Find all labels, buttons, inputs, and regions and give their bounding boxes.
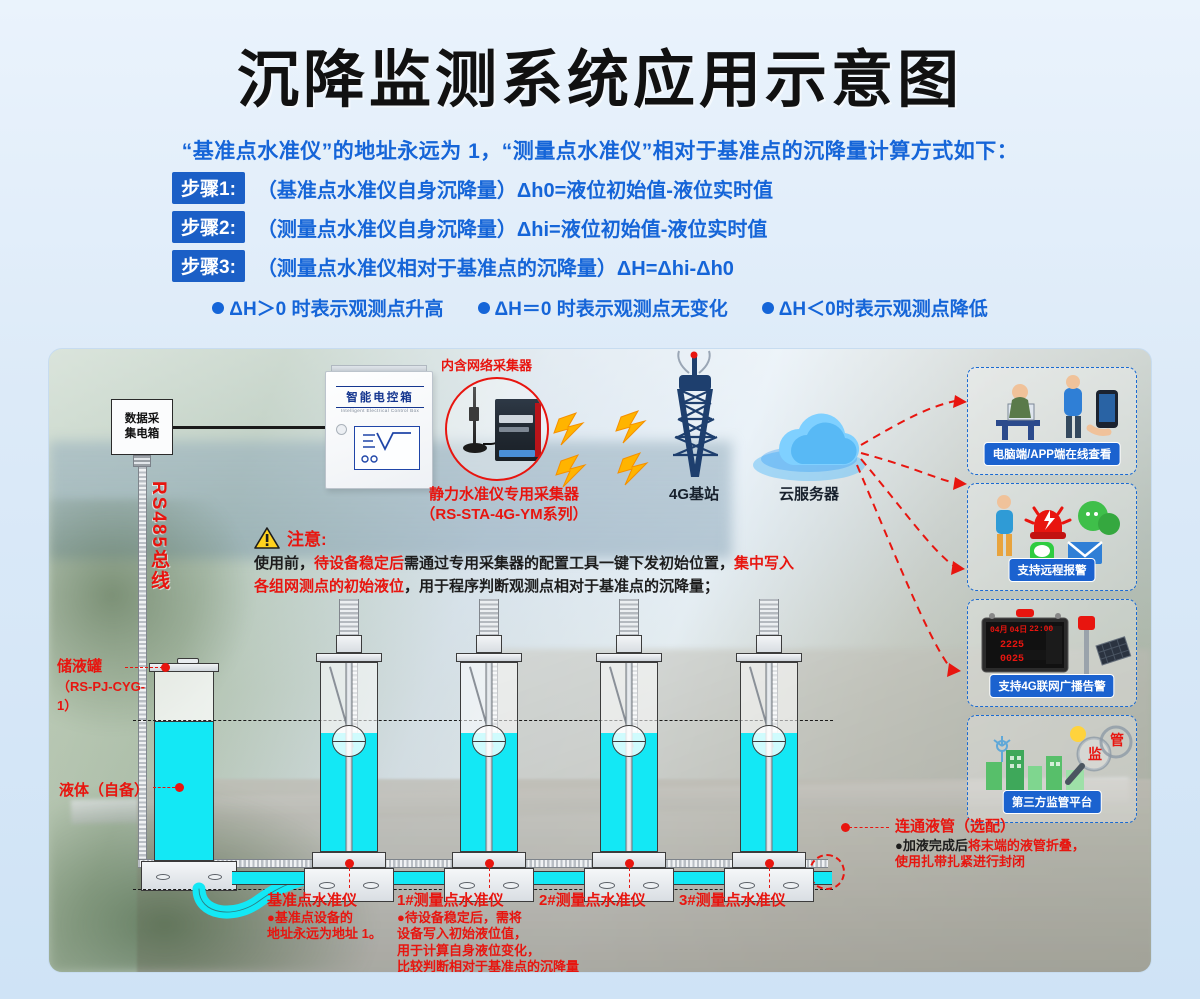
pipe-callout-title: 连通液管（选配） bbox=[895, 815, 1135, 836]
step-row: 步骤2: （测量点水准仪自身沉降量）Δhi=液位初始值-液位实时值 bbox=[150, 211, 1050, 243]
instrument-name: 2#测量点水准仪 bbox=[539, 889, 646, 910]
pipe-callout-dot bbox=[841, 823, 850, 832]
bullet-icon bbox=[762, 302, 774, 314]
instrument-cylinder bbox=[320, 662, 378, 852]
rs485-bus-label: RS485总线 bbox=[145, 481, 172, 591]
instrument-leader bbox=[349, 868, 350, 888]
tank-label-line2: （RS-PJ-CYG-1） bbox=[57, 676, 153, 714]
mount-hole bbox=[739, 882, 755, 889]
warning-note: 注意: 使用前，待设备稳定后需通过专用采集器的配置工具一键下发初始位置，集中写入… bbox=[254, 525, 834, 598]
bullet-icon bbox=[212, 302, 224, 314]
mount-hole bbox=[599, 882, 615, 889]
dataflow-arrows bbox=[857, 401, 955, 669]
instrument-cable bbox=[339, 599, 359, 635]
cable-gland-icon bbox=[133, 455, 151, 467]
float-centerline bbox=[613, 741, 645, 742]
mount-hole bbox=[363, 882, 379, 889]
tank-label-line1: 储液罐 bbox=[57, 655, 153, 676]
panel-remote-alarm[interactable]: 支持远程报警 bbox=[967, 483, 1137, 591]
instrument-anchor-dot bbox=[345, 859, 354, 868]
control-box-knob-icon bbox=[336, 424, 347, 435]
step-row: 步骤1: （基准点水准仪自身沉降量）Δh0=液位初始值-液位实时值 bbox=[150, 172, 1050, 204]
instrument-cable bbox=[479, 599, 499, 635]
condition-item: ΔH＝0 时表示观测点无变化 bbox=[478, 294, 728, 321]
instrument-lid bbox=[596, 653, 662, 662]
instrument-label-point-3: 3#测量点水准仪 bbox=[679, 889, 786, 910]
instrument-note: 用于计算自身液位变化， bbox=[397, 943, 579, 959]
led-day: 04日 bbox=[1010, 624, 1028, 635]
instrument-note: ●基准点设备的 bbox=[267, 910, 382, 926]
step-row: 步骤3: （测量点水准仪相对于基准点的沉降量）ΔH=Δhi-Δh0 bbox=[150, 250, 1050, 282]
pipe-callout-leader bbox=[849, 827, 889, 828]
system-diagram: 数据采 集电箱 RS485总线 智能电控箱 Intelligent Electr… bbox=[48, 348, 1152, 973]
antenna-connector-icon bbox=[469, 407, 479, 421]
collector-magnifier bbox=[445, 377, 549, 481]
condition-label: ΔH＝0 时表示观测点无变化 bbox=[495, 294, 728, 321]
collector-device-icon bbox=[495, 399, 541, 461]
panel-caption: 支持远程报警 bbox=[1009, 558, 1096, 582]
instrument-rod bbox=[346, 663, 353, 851]
instrument-cable bbox=[759, 599, 779, 635]
instrument-rod bbox=[486, 663, 493, 851]
instrument-cylinder bbox=[460, 662, 518, 852]
magnifier-text-left: 监 bbox=[1088, 744, 1102, 764]
warning-note-body: 使用前，待设备稳定后需通过专用采集器的配置工具一键下发初始位置，集中写入 各组网… bbox=[254, 553, 834, 598]
warning-triangle-icon bbox=[254, 526, 280, 550]
instrument-neck bbox=[336, 635, 362, 653]
collector-callout-label: 内含网络采集器 bbox=[441, 355, 532, 374]
magnifier-text-right: 管 bbox=[1110, 730, 1124, 750]
device-label-strip bbox=[499, 415, 533, 423]
tank-base bbox=[141, 861, 237, 891]
pc-app-icon bbox=[968, 374, 1136, 451]
led-value-2: 0025 bbox=[1000, 654, 1064, 665]
intelligent-control-box: 智能电控箱 Intelligent Electrical Control Box bbox=[325, 371, 433, 489]
step-text: （基准点水准仪自身沉降量）Δh0=液位初始值-液位实时值 bbox=[257, 174, 773, 203]
led-value-1: 2225 bbox=[1000, 640, 1064, 651]
step-badge: 步骤1: bbox=[172, 172, 245, 204]
pipe-note-a: ●加液完成后 bbox=[895, 838, 968, 854]
condition-item: ΔH＞0 时表示观测点升高 bbox=[212, 294, 443, 321]
tank-label-leader bbox=[125, 667, 163, 668]
pipe-note-b: 将末端的液管折叠， bbox=[968, 838, 1085, 854]
instrument-rod bbox=[766, 663, 773, 851]
mount-hole bbox=[783, 882, 799, 889]
condition-label: ΔH＞0 时表示观测点升高 bbox=[229, 294, 443, 321]
tank-air-space bbox=[154, 671, 214, 721]
led-month: 04月 bbox=[990, 624, 1008, 635]
panel-pc-app[interactable]: 电脑端/APP端在线查看 bbox=[967, 367, 1137, 475]
instrument-neck bbox=[756, 635, 782, 653]
instrument-leader bbox=[489, 868, 490, 888]
bullet-icon bbox=[478, 302, 490, 314]
instrument-label-benchmark: 基准点水准仪 ●基准点设备的 地址永远为地址 1。 bbox=[267, 889, 382, 943]
liquid-tank bbox=[154, 721, 214, 861]
mount-hole bbox=[459, 882, 475, 889]
cloud-server-icon bbox=[753, 349, 865, 481]
device-port bbox=[499, 450, 535, 457]
instrument-name: 3#测量点水准仪 bbox=[679, 889, 786, 910]
mount-hole bbox=[503, 882, 519, 889]
liquid-label: 液体（自备） bbox=[59, 779, 149, 800]
condition-item: ΔH＜0时表示观测点降低 bbox=[762, 294, 988, 321]
instrument-note: ●待设备稳定后，需将 bbox=[397, 910, 579, 926]
conditions-row: ΔH＞0 时表示观测点升高 ΔH＝0 时表示观测点无变化 ΔH＜0时表示观测点降… bbox=[0, 294, 1200, 321]
step-text: （测量点水准仪自身沉降量）Δhi=液位初始值-液位实时值 bbox=[257, 213, 768, 242]
instrument-leader bbox=[629, 868, 630, 888]
instrument-float-ball bbox=[472, 725, 506, 757]
panel-4g-broadcast[interactable]: 04月 04日 22:00 2225 0025 支持4G联网广播告警 bbox=[967, 599, 1137, 707]
note-seg-red: 集中写入 bbox=[734, 555, 794, 572]
step-badge: 步骤2: bbox=[172, 211, 245, 243]
float-centerline bbox=[753, 741, 785, 742]
mount-hole bbox=[319, 882, 335, 889]
tank-label-anchor-dot bbox=[161, 663, 170, 672]
instrument-float-ball bbox=[332, 725, 366, 757]
instrument-note: 比较判断相对于基准点的沉降量 bbox=[397, 959, 579, 973]
data-collection-box-label: 数据采 集电箱 bbox=[125, 412, 160, 442]
panel-caption: 电脑端/APP端在线查看 bbox=[984, 442, 1121, 466]
warning-note-title: 注意: bbox=[287, 525, 327, 550]
instrument-neck bbox=[616, 635, 642, 653]
panel-caption: 支持4G联网广播告警 bbox=[989, 674, 1114, 698]
collector-label: 静力水准仪专用采集器 （RS-STA-4G-YM系列） bbox=[379, 485, 629, 526]
instrument-name: 基准点水准仪 bbox=[267, 889, 382, 910]
instrument-lid bbox=[456, 653, 522, 662]
warning-note-header: 注意: bbox=[254, 525, 834, 550]
instrument-leader bbox=[769, 868, 770, 888]
note-seg: 使用前， bbox=[254, 555, 314, 572]
instrument-label-point-2: 2#测量点水准仪 bbox=[539, 889, 646, 910]
instrument-float-ball bbox=[612, 725, 646, 757]
tank-label: 储液罐 （RS-PJ-CYG-1） bbox=[57, 655, 153, 714]
note-seg-red: 待设备稳定后 bbox=[314, 555, 404, 572]
liquid-label-leader bbox=[153, 787, 175, 788]
collector-label-line1: 静力水准仪专用采集器 bbox=[379, 485, 629, 505]
steps-list: 步骤1: （基准点水准仪自身沉降量）Δh0=液位初始值-液位实时值 步骤2: （… bbox=[150, 172, 1050, 282]
collector-label-line2: （RS-STA-4G-YM系列） bbox=[379, 505, 629, 525]
step-text: （测量点水准仪相对于基准点的沉降量）ΔH=Δhi-Δh0 bbox=[257, 252, 734, 281]
instrument-cylinder bbox=[740, 662, 798, 852]
instrument-cylinder bbox=[600, 662, 658, 852]
instrument-anchor-dot bbox=[765, 859, 774, 868]
panel-third-party[interactable]: 监 管 第三方监管平台 bbox=[967, 715, 1137, 823]
panel-caption: 第三方监管平台 bbox=[1003, 790, 1102, 814]
pipe-end-highlight bbox=[809, 854, 845, 890]
pipe-note-c: 使用扎带扎紧进行封闭 bbox=[895, 854, 1135, 870]
liquid-label-anchor-dot bbox=[175, 783, 184, 792]
control-box-subtitle: Intelligent Electrical Control Box bbox=[336, 408, 424, 413]
mount-hole bbox=[643, 882, 659, 889]
cloud-server-label: 云服务器 bbox=[749, 483, 869, 504]
subtitle: “基准点水准仪”的地址永远为 1，“测量点水准仪”相对于基准点的沉降量计算方式如… bbox=[0, 135, 1200, 165]
instrument-lid bbox=[316, 653, 382, 662]
float-centerline bbox=[333, 741, 365, 742]
instrument-float-ball bbox=[752, 725, 786, 757]
page-title: 沉降监测系统应用示意图 bbox=[0, 0, 1200, 113]
step-badge: 步骤3: bbox=[172, 250, 245, 282]
device-red-stripe bbox=[535, 403, 541, 457]
note-seg: ，用于程序判断观测点相对于基准点的沉降量； bbox=[404, 578, 719, 595]
instrument-cable bbox=[619, 599, 639, 635]
dataflow-arrowheads bbox=[947, 395, 967, 677]
float-centerline bbox=[473, 741, 505, 742]
note-seg: 需通过专用采集器的配置工具一键下发初始位置， bbox=[404, 555, 734, 572]
note-seg-red: 各组网测点的初始液位 bbox=[254, 578, 404, 595]
instrument-anchor-dot bbox=[625, 859, 634, 868]
tank-base-hole bbox=[156, 874, 170, 880]
led-time: 22:00 bbox=[1029, 625, 1053, 634]
instrument-neck bbox=[476, 635, 502, 653]
instrument-rod bbox=[626, 663, 633, 851]
instrument-anchor-dot bbox=[485, 859, 494, 868]
device-label-strip-2 bbox=[499, 427, 529, 432]
tank-base-hole bbox=[208, 874, 222, 880]
led-readout: 04月 04日 22:00 2225 0025 bbox=[990, 624, 1064, 665]
control-box-title: 智能电控箱 bbox=[336, 386, 424, 408]
condition-label: ΔH＜0时表示观测点降低 bbox=[779, 294, 988, 321]
tower-label: 4G基站 bbox=[639, 483, 749, 504]
data-collection-box: 数据采 集电箱 bbox=[111, 399, 173, 455]
control-box-screen-icon bbox=[354, 426, 420, 470]
instrument-note: 设备写入初始液位值， bbox=[397, 926, 579, 942]
instrument-lid bbox=[736, 653, 802, 662]
pipe-callout: 连通液管（选配） ●加液完成后 将末端的液管折叠， 使用扎带扎紧进行封闭 bbox=[895, 815, 1135, 871]
instrument-note: 地址永远为地址 1。 bbox=[267, 926, 382, 942]
